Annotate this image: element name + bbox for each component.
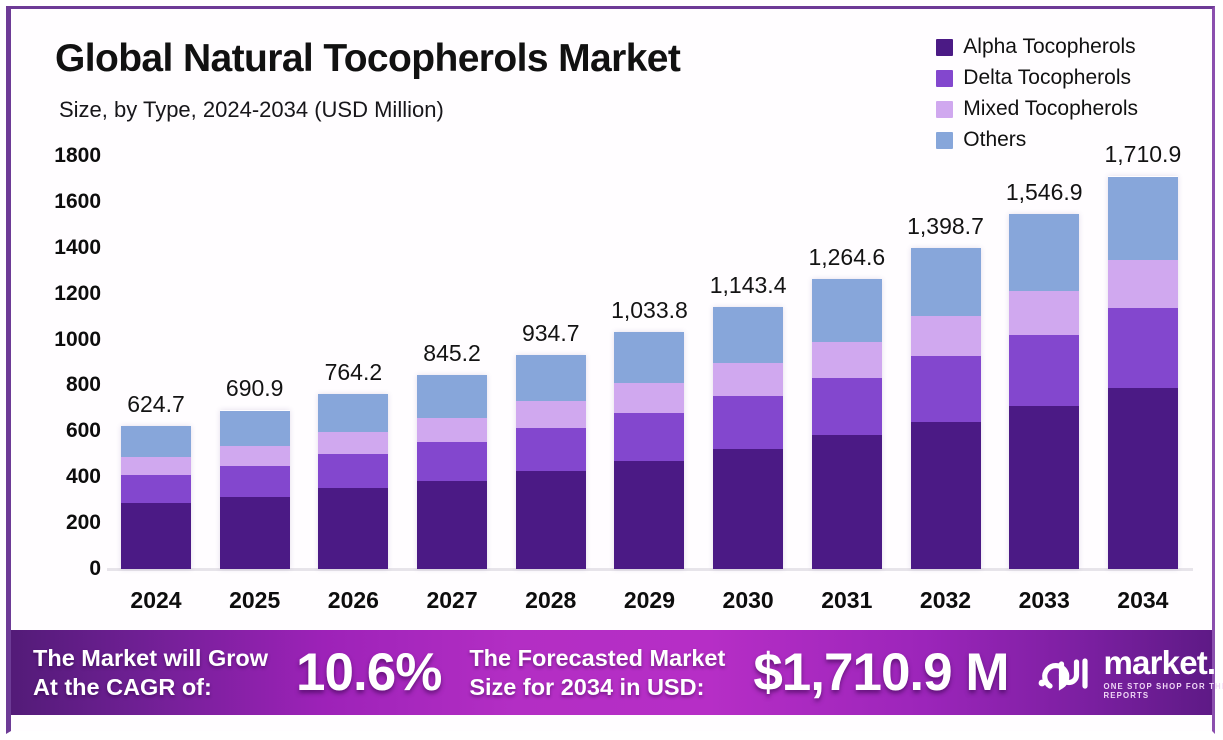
bar-segment-2026-alpha[interactable] (318, 488, 388, 569)
y-axis-tick-1800: 1800 (54, 144, 101, 168)
bar-column-2032[interactable]: 1,398.7 (903, 156, 989, 569)
bar-total-label-2024: 624.7 (127, 391, 185, 418)
legend-swatch-others (936, 132, 953, 149)
stacked-bar-2029[interactable] (614, 332, 684, 569)
bar-total-label-2032: 1,398.7 (907, 213, 984, 240)
bar-column-2026[interactable]: 764.2 (310, 156, 396, 569)
stacked-bar-2028[interactable] (516, 355, 586, 569)
stacked-bar-2033[interactable] (1009, 214, 1079, 569)
stacked-bar-2034[interactable] (1108, 176, 1178, 569)
bar-segment-2028-others[interactable] (516, 355, 586, 401)
bar-group: 624.7690.9764.2845.2934.71,033.81,143.41… (107, 156, 1192, 569)
stacked-bar-2025[interactable] (220, 410, 290, 569)
legend-swatch-alpha (936, 39, 953, 56)
y-axis-tick-1200: 1200 (54, 282, 101, 306)
bar-column-2030[interactable]: 1,143.4 (705, 156, 791, 569)
y-axis-tick-0: 0 (89, 557, 101, 581)
bar-column-2031[interactable]: 1,264.6 (804, 156, 890, 569)
market-us-logo-icon (1037, 652, 1095, 694)
bar-segment-2034-others[interactable] (1108, 177, 1178, 261)
legend-label-delta: Delta Tocopherols (963, 66, 1131, 90)
bar-column-2024[interactable]: 624.7 (113, 156, 199, 569)
bar-segment-2026-mixed[interactable] (318, 432, 388, 454)
bar-segment-2033-delta[interactable] (1009, 335, 1079, 406)
bar-segment-2025-delta[interactable] (220, 466, 290, 497)
bar-segment-2024-delta[interactable] (121, 475, 191, 503)
x-axis: 2024202520262027202820292030203120322033… (107, 587, 1192, 621)
cagr-value: 10.6% (296, 642, 441, 703)
bar-segment-2030-delta[interactable] (713, 396, 783, 449)
bar-segment-2024-others[interactable] (121, 426, 191, 457)
bar-total-label-2025: 690.9 (226, 375, 284, 402)
bar-total-label-2030: 1,143.4 (710, 272, 787, 299)
bar-segment-2028-alpha[interactable] (516, 471, 586, 569)
stacked-bar-2026[interactable] (318, 394, 388, 569)
legend-swatch-delta (936, 70, 953, 87)
brand-name: market.us (1104, 646, 1223, 679)
plot-region: 624.7690.9764.2845.2934.71,033.81,143.41… (107, 156, 1192, 569)
y-axis-tick-400: 400 (66, 465, 101, 489)
bar-total-label-2027: 845.2 (423, 340, 481, 367)
bar-segment-2032-alpha[interactable] (911, 422, 981, 569)
bar-column-2029[interactable]: 1,033.8 (606, 156, 692, 569)
page-title: Global Natural Tocopherols Market (55, 37, 680, 81)
legend-item-delta[interactable]: Delta Tocopherols (936, 66, 1138, 90)
bar-segment-2034-delta[interactable] (1108, 308, 1178, 388)
x-axis-label-2024: 2024 (113, 587, 199, 621)
bar-segment-2027-others[interactable] (417, 375, 487, 418)
bar-segment-2025-alpha[interactable] (220, 497, 290, 569)
x-axis-label-2026: 2026 (310, 587, 396, 621)
bar-segment-2024-alpha[interactable] (121, 503, 191, 569)
bar-segment-2031-mixed[interactable] (812, 342, 882, 378)
bar-column-2027[interactable]: 845.2 (409, 156, 495, 569)
brand-text: market.us ONE STOP SHOP FOR THE REPORTS (1104, 646, 1223, 700)
bar-segment-2030-alpha[interactable] (713, 449, 783, 569)
x-axis-label-2031: 2031 (804, 587, 890, 621)
page-subtitle: Size, by Type, 2024-2034 (USD Million) (59, 97, 444, 123)
infographic-frame: Global Natural Tocopherols Market Size, … (6, 6, 1215, 734)
bar-segment-2029-mixed[interactable] (614, 383, 684, 413)
stacked-bar-2027[interactable] (417, 375, 487, 569)
bar-segment-2025-others[interactable] (220, 411, 290, 446)
x-axis-label-2030: 2030 (705, 587, 791, 621)
bar-segment-2027-mixed[interactable] (417, 418, 487, 442)
stacked-bar-2032[interactable] (911, 248, 981, 569)
bar-segment-2029-alpha[interactable] (614, 461, 684, 569)
bar-segment-2031-delta[interactable] (812, 378, 882, 435)
bar-total-label-2033: 1,546.9 (1006, 179, 1083, 206)
cagr-caption: The Market will Grow At the CAGR of: (33, 644, 268, 700)
chart-area: Global Natural Tocopherols Market Size, … (11, 9, 1212, 629)
bar-column-2025[interactable]: 690.9 (212, 156, 298, 569)
y-axis-tick-1600: 1600 (54, 190, 101, 214)
bar-total-label-2031: 1,264.6 (808, 244, 885, 271)
bar-segment-2033-alpha[interactable] (1009, 406, 1079, 569)
bar-segment-2029-others[interactable] (614, 332, 684, 383)
legend-item-mixed[interactable]: Mixed Tocopherols (936, 97, 1138, 121)
bar-total-label-2026: 764.2 (325, 359, 383, 386)
x-axis-label-2025: 2025 (212, 587, 298, 621)
bar-segment-2026-others[interactable] (318, 394, 388, 432)
y-axis: 180016001400120010008006004002000 (29, 142, 101, 583)
bar-segment-2034-mixed[interactable] (1108, 260, 1178, 308)
cagr-caption-line2: At the CAGR of: (33, 674, 212, 700)
bar-segment-2025-mixed[interactable] (220, 446, 290, 466)
bar-segment-2033-mixed[interactable] (1009, 291, 1079, 335)
forecast-caption-line1: The Forecasted Market (469, 645, 725, 671)
legend-label-mixed: Mixed Tocopherols (963, 97, 1138, 121)
y-axis-tick-1400: 1400 (54, 236, 101, 260)
forecast-caption: The Forecasted Market Size for 2034 in U… (469, 644, 725, 700)
bar-segment-2030-mixed[interactable] (713, 363, 783, 396)
bar-total-label-2034: 1,710.9 (1105, 141, 1182, 168)
brand-logo: market.us ONE STOP SHOP FOR THE REPORTS (1037, 646, 1223, 700)
bar-segment-2026-delta[interactable] (318, 454, 388, 489)
stacked-bar-2031[interactable] (812, 279, 882, 569)
legend-label-alpha: Alpha Tocopherols (963, 35, 1135, 59)
cagr-caption-line1: The Market will Grow (33, 645, 268, 671)
bar-segment-2030-others[interactable] (713, 307, 783, 363)
stacked-bar-2030[interactable] (713, 307, 783, 569)
bar-total-label-2029: 1,033.8 (611, 297, 688, 324)
x-axis-label-2027: 2027 (409, 587, 495, 621)
bar-segment-2031-others[interactable] (812, 279, 882, 342)
stacked-bar-2024[interactable] (121, 426, 191, 569)
y-axis-tick-1000: 1000 (54, 328, 101, 352)
y-axis-tick-800: 800 (66, 373, 101, 397)
legend-swatch-mixed (936, 101, 953, 118)
y-axis-tick-600: 600 (66, 419, 101, 443)
bar-segment-2032-others[interactable] (911, 248, 981, 316)
bar-column-2033[interactable]: 1,546.9 (1001, 156, 1087, 569)
x-axis-label-2034: 2034 (1100, 587, 1186, 621)
brand-tagline: ONE STOP SHOP FOR THE REPORTS (1104, 682, 1223, 700)
x-axis-label-2029: 2029 (606, 587, 692, 621)
bar-segment-2032-delta[interactable] (911, 356, 981, 422)
forecast-value: $1,710.9 M (753, 642, 1008, 703)
x-axis-label-2032: 2032 (903, 587, 989, 621)
legend-item-alpha[interactable]: Alpha Tocopherols (936, 35, 1138, 59)
bar-segment-2031-alpha[interactable] (812, 435, 882, 569)
x-axis-label-2028: 2028 (508, 587, 594, 621)
x-axis-label-2033: 2033 (1001, 587, 1087, 621)
chart-legend: Alpha TocopherolsDelta TocopherolsMixed … (936, 35, 1138, 152)
forecast-caption-line2: Size for 2034 in USD: (469, 674, 704, 700)
bar-segment-2032-mixed[interactable] (911, 316, 981, 356)
bar-segment-2029-delta[interactable] (614, 413, 684, 461)
bar-column-2028[interactable]: 934.7 (508, 156, 594, 569)
bar-total-label-2028: 934.7 (522, 320, 580, 347)
bar-segment-2028-delta[interactable] (516, 428, 586, 471)
bar-segment-2024-mixed[interactable] (121, 457, 191, 475)
bar-segment-2028-mixed[interactable] (516, 401, 586, 428)
bar-column-2034[interactable]: 1,710.9 (1100, 156, 1186, 569)
bar-segment-2027-alpha[interactable] (417, 481, 487, 569)
summary-banner: The Market will Grow At the CAGR of: 10.… (11, 630, 1212, 715)
legend-label-others: Others (963, 128, 1026, 152)
y-axis-tick-200: 200 (66, 511, 101, 535)
bar-segment-2034-alpha[interactable] (1108, 388, 1178, 569)
bar-segment-2027-delta[interactable] (417, 442, 487, 481)
infographic-root: Global Natural Tocopherols Market Size, … (0, 0, 1223, 740)
bar-segment-2033-others[interactable] (1009, 214, 1079, 291)
